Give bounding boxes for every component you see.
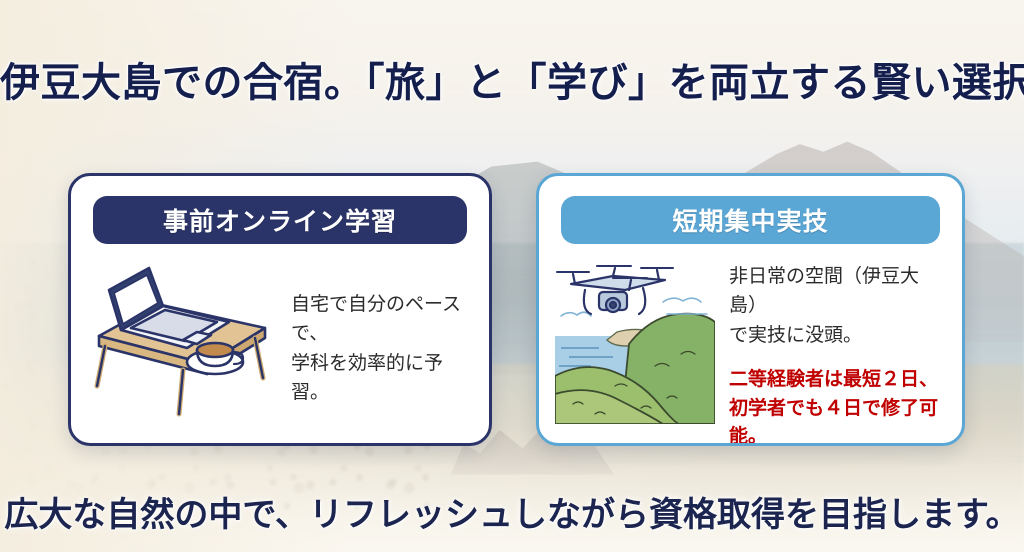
promo-banner: 伊豆大島での合宿。「旅」と「学び」を両立する賢い選択 事前オンライン学習 [0,0,1024,552]
footer-tagline: 広大な自然の中で、リフレッシュしながら資格取得を目指します。 [0,487,1024,536]
card-desc-line: で実技に没頭。 [729,325,862,346]
card-highlight-short-intensive-practical: 二等経験者は最短２日、 初学者でも４日で修了可能。 [729,366,942,446]
card-body-pre-online-study: 自宅で自分のペースで、 学科を効率的に予習。 [71,244,489,423]
card-text-pre-online-study: 自宅で自分のペースで、 学科を効率的に予習。 [283,258,469,408]
feature-card-list: 事前オンライン学習 [0,173,1024,448]
laptop-on-low-table-with-coffee-icon [87,258,277,423]
feature-card-pre-online-study: 事前オンライン学習 [68,173,492,446]
card-text-short-intensive-practical: 非日常の空間（伊豆大島） で実技に没頭。 二等経験者は最短２日、 初学者でも４日… [721,258,942,446]
card-desc-line: 非日常の空間（伊豆大島） [729,266,919,316]
feature-card-short-intensive-practical: 短期集中実技 [536,173,965,446]
page-title: 伊豆大島での合宿。「旅」と「学び」を両立する賢い選択 [0,50,1024,108]
card-desc-line: 自宅で自分のペースで、 [291,294,461,344]
card-header-pre-online-study: 事前オンライン学習 [93,196,467,244]
card-highlight-line: 二等経験者は最短２日、 [729,369,938,390]
card-body-short-intensive-practical: 非日常の空間（伊豆大島） で実技に没頭。 二等経験者は最短２日、 初学者でも４日… [539,244,962,446]
card-header-short-intensive-practical: 短期集中実技 [561,196,940,244]
drone-over-island-coast-icon [555,258,715,429]
card-desc-pre-online-study: 自宅で自分のペースで、 学科を効率的に予習。 [291,290,469,408]
card-desc-short-intensive-practical: 非日常の空間（伊豆大島） で実技に没頭。 [729,262,942,350]
card-highlight-line: 初学者でも４日で修了可能。 [729,398,938,446]
card-desc-line: 学科を効率的に予習。 [291,353,443,403]
